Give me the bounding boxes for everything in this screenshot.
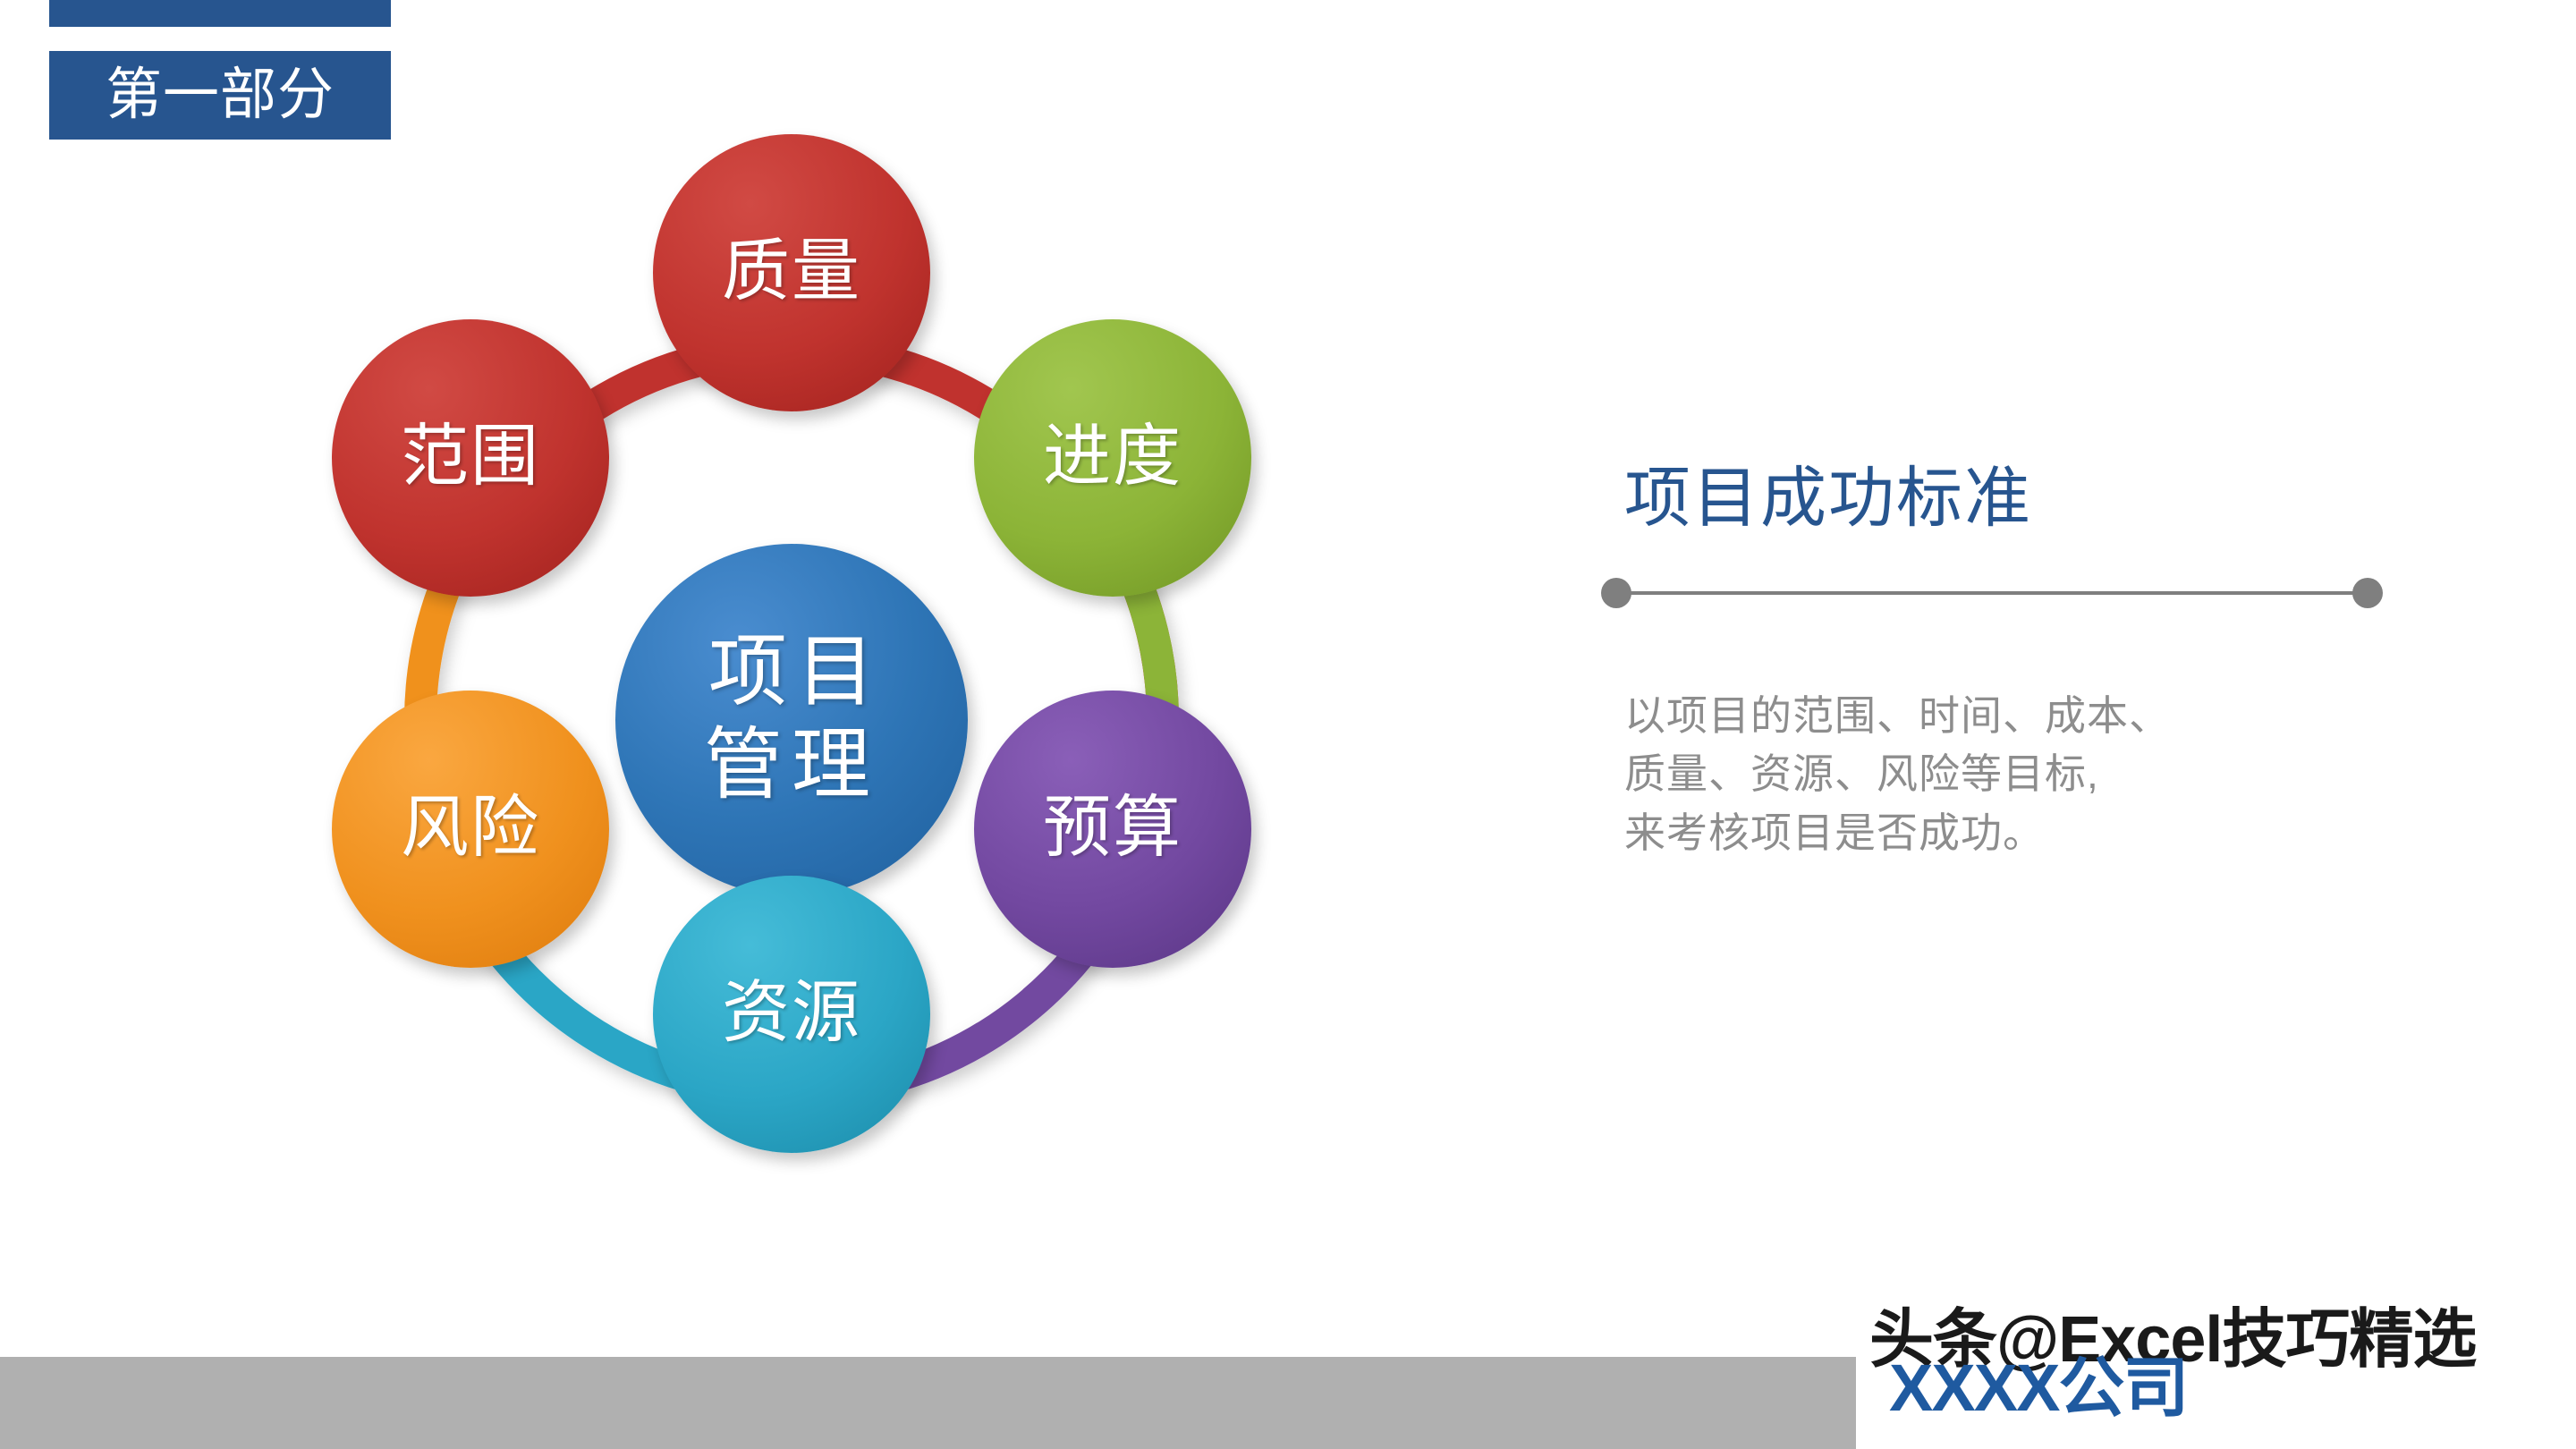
node-scope[interactable]: 范围 [332,319,609,597]
center-node-label-line1: 项目 [708,630,884,716]
node-schedule[interactable]: 进度 [974,319,1251,597]
section-accent-bar [49,0,391,27]
node-quality-label: 质量 [722,237,861,309]
project-management-ring-diagram: 项目管理 质量 进度 预算 资源 风险 范围 [139,80,1445,1315]
node-scope-label: 范围 [401,422,540,494]
slide-canvas: 第一部分 [0,0,2576,1449]
center-node-project-management[interactable]: 项目管理 [615,544,968,896]
panel-divider [1601,578,2383,608]
panel-body-text: 以项目的范围、时间、成本、 质量、资源、风险等目标, 来考核项目是否成功。 [1624,687,2406,862]
divider-line [1616,591,2368,595]
footer-company-name: XXXX公司 [1889,1355,2187,1421]
right-text-panel: 项目成功标准 以项目的范围、时间、成本、 质量、资源、风险等目标, 来考核项目是… [1601,465,2406,862]
node-resource-label: 资源 [722,979,861,1050]
center-node-label: 项目管理 [699,627,884,813]
node-risk-label: 风险 [401,793,540,865]
panel-title: 项目成功标准 [1624,465,2406,531]
node-quality[interactable]: 质量 [653,134,930,411]
node-resource[interactable]: 资源 [653,876,930,1153]
divider-dot-right-icon [2352,578,2383,608]
center-node-label-line2: 管理 [704,723,879,809]
node-budget[interactable]: 预算 [974,691,1251,968]
node-schedule-label: 进度 [1043,422,1182,494]
node-risk[interactable]: 风险 [332,691,609,968]
node-budget-label: 预算 [1043,793,1182,865]
footer-bar [0,1357,1856,1449]
